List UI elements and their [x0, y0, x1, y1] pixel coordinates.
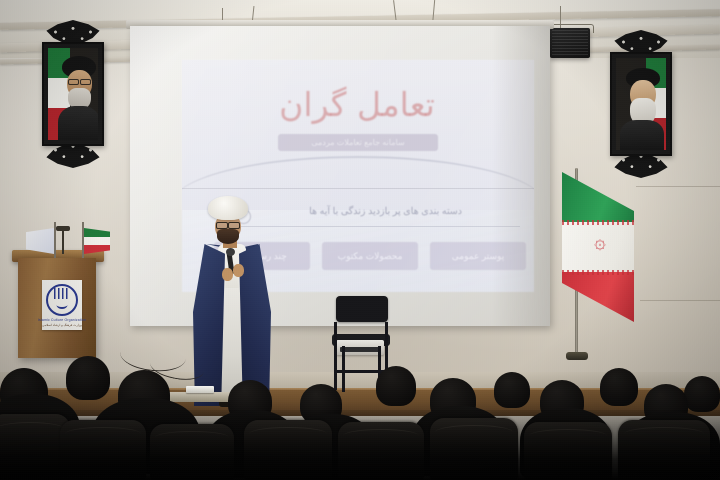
- right-hand: [233, 264, 244, 277]
- podium-logo-caption-en: Islamic Culture Organization: [38, 318, 86, 322]
- slide-divider: [182, 188, 534, 189]
- beard: [217, 229, 239, 244]
- robe: [58, 106, 98, 140]
- microphone-head: [226, 248, 235, 256]
- glasses-icon: [216, 222, 240, 227]
- audience-head: [494, 372, 530, 408]
- white-turban: [208, 196, 248, 220]
- portrait-board: [42, 42, 104, 146]
- ceiling-speaker-right: [550, 28, 590, 58]
- photo-scene: تعامل گران سامانه جامع تعاملات مردمی دست…: [0, 0, 720, 480]
- podium-microphone-head: [56, 226, 70, 231]
- portrait-image: [48, 48, 98, 140]
- slide-button-written-products: محصولات مکتوب: [322, 242, 418, 270]
- podium-logo-caption-fa: وزارت فرهنگ و ارشاد اسلامی: [42, 323, 82, 327]
- left-hand: [222, 268, 233, 281]
- portrait-board: [610, 52, 672, 156]
- flag-kufic-band: [562, 270, 634, 275]
- slide-title: تعامل گران: [262, 76, 452, 134]
- iran-desk-flag: [82, 222, 112, 258]
- wall-seam: [640, 300, 720, 301]
- robe: [620, 120, 664, 150]
- audience-head: [684, 376, 720, 412]
- podium-logo-plate: Islamic Culture Organization وزارت فرهنگ…: [42, 280, 82, 330]
- portrait-khomeini: [610, 52, 672, 156]
- audience-head: [600, 368, 638, 406]
- audience-head: [66, 356, 110, 400]
- chair-back: [336, 296, 388, 322]
- podium-microphone: [62, 230, 64, 254]
- speaker-grille: [552, 30, 588, 56]
- flag-kufic-band: [562, 220, 634, 225]
- audience-shadow: [0, 410, 720, 480]
- organization-logo-icon: [46, 284, 78, 316]
- portrait-khamenei: [42, 42, 104, 146]
- portrait-image: [616, 58, 666, 150]
- slide-subtitle: سامانه جامع تعاملات مردمی: [278, 134, 438, 151]
- laptop-keyboard: [340, 347, 380, 352]
- glasses-icon: [68, 79, 91, 83]
- slide-search-placeholder: دسته بندی های پر بازدید زندگی با آیه ها: [309, 206, 462, 217]
- audience-head: [376, 366, 416, 406]
- flag-emblem: ۞: [588, 230, 612, 252]
- screen-shadow: [492, 26, 550, 326]
- audience-area: [0, 358, 720, 480]
- wall-seam: [636, 186, 720, 187]
- white-institution-flag: [26, 222, 56, 258]
